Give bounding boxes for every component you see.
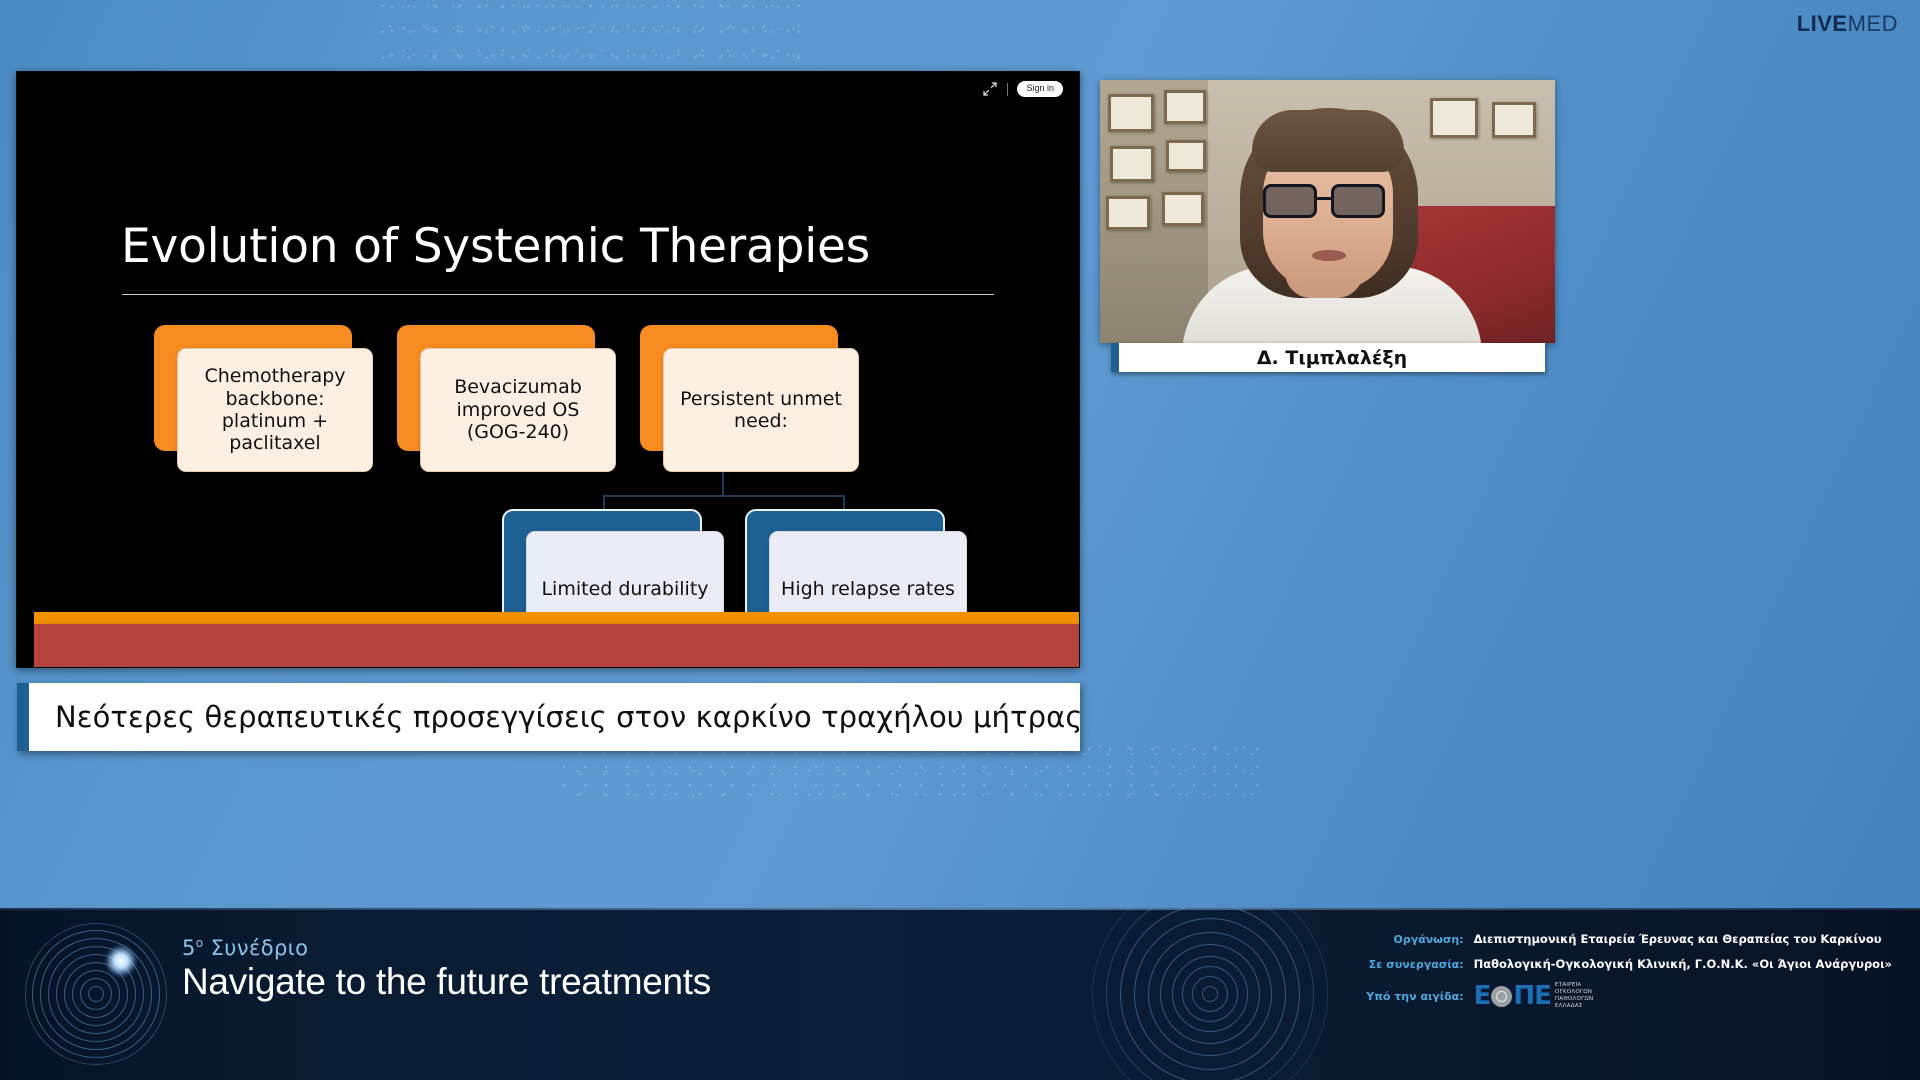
slide-red-band — [34, 624, 1080, 668]
speaker-name: Δ. Τιμπλαλέξη — [1257, 347, 1407, 369]
controls-divider — [1007, 83, 1008, 96]
diagram-node-bevacizumab: Bevacizumab improved OS (GOG-240) — [397, 325, 597, 473]
congress-text-block: 5ο Συνέδριο Navigate to the future treat… — [182, 936, 711, 1003]
brand-med: MED — [1848, 11, 1898, 36]
glasses-bridge — [1317, 197, 1333, 200]
congress-footer: 5ο Συνέδριο Navigate to the future treat… — [0, 908, 1920, 1080]
slide-title-underline — [122, 294, 994, 295]
eope-sub-line: ΕΤΑΙΡΕΙΑ — [1555, 982, 1593, 989]
congress-logo-mark — [22, 922, 170, 1070]
slide-orange-band — [34, 612, 1080, 624]
node-card: Chemotherapy backbone: platinum + paclit… — [177, 348, 373, 472]
slide-player-panel[interactable]: Sign in Evolution of Systemic Therapies … — [16, 71, 1080, 668]
node-label: Chemotherapy backbone: platinum + paclit… — [178, 365, 372, 455]
wall-frame — [1430, 98, 1478, 138]
app-root: LIVEMED Sign in Evolution of Systemic Th… — [0, 0, 1920, 1080]
player-controls: Sign in — [982, 81, 1063, 97]
eope-sub-line: ΕΛΛΑΔΑΣ — [1555, 1003, 1593, 1010]
eope-letters: E ΠE — [1474, 983, 1551, 1009]
glasses-right-lens — [1331, 184, 1385, 218]
glasses-left-lens — [1263, 184, 1317, 218]
eope-logo: E ΠE ΕΤΑΙΡΕΙΑ ΟΓΚΟΛΟΓΩΝ ΠΑΘΟΛΟΓΩΝ ΕΛΛΑΔΑ… — [1474, 982, 1892, 1011]
node-label: Limited durability — [531, 578, 718, 600]
slide-title: Evolution of Systemic Therapies — [121, 219, 870, 274]
sign-in-button[interactable]: Sign in — [1017, 81, 1063, 97]
brand-live: LIVE — [1797, 11, 1848, 36]
congress-edition: 5ο Συνέδριο — [182, 936, 711, 960]
diagram-node-chemotherapy: Chemotherapy backbone: platinum + paclit… — [154, 325, 354, 473]
sponsor-label-auspices: Υπό την αιγίδα: — [1366, 990, 1463, 1003]
node-label: Persistent unmet need: — [664, 388, 858, 433]
wall-frame — [1164, 90, 1206, 124]
sponsor-label-organizer: Οργάνωση: — [1366, 933, 1463, 946]
sponsor-label-collaboration: Σε συνεργασία: — [1366, 958, 1463, 971]
speaker-fringe — [1252, 110, 1404, 172]
node-label: High relapse rates — [771, 578, 965, 600]
logo-glow — [104, 944, 138, 978]
wall-frame — [1108, 94, 1154, 132]
sponsor-value-organizer: Διεπιστημονική Εταιρεία Έρευνας και Θερα… — [1474, 932, 1892, 946]
diagram-node-unmet-need: Persistent unmet need: — [640, 325, 840, 473]
eope-sub-line: ΠΑΘΟΛΟΓΩΝ — [1555, 996, 1593, 1003]
session-title-text: Νεότερες θεραπευτικές προσεγγίσεις στον … — [29, 700, 1082, 734]
speaker-video[interactable] — [1100, 80, 1555, 343]
congress-edition-ordinal: ο — [196, 936, 204, 950]
eope-letters-pe: ΠE — [1513, 983, 1551, 1009]
eope-letter-e: E — [1474, 983, 1491, 1009]
wall-frame — [1106, 196, 1150, 230]
livemed-logo: LIVEMED — [1797, 13, 1898, 35]
footer-top-edge — [0, 908, 1920, 910]
connector-horizontal — [603, 495, 845, 497]
congress-edition-number: 5 — [182, 936, 196, 960]
congress-title: Navigate to the future treatments — [182, 961, 711, 1003]
expand-arrows-icon[interactable] — [982, 81, 998, 97]
congress-edition-word: Συνέδριο — [211, 936, 309, 960]
connector-vertical-from-parent — [722, 472, 724, 496]
node-card: Persistent unmet need: — [663, 348, 859, 472]
speaker-nameplate: Δ. Τιμπλαλέξη — [1111, 343, 1545, 372]
wall-frame — [1162, 192, 1204, 226]
session-title-bar: Νεότερες θεραπευτικές προσεγγίσεις στον … — [17, 683, 1080, 751]
speaker-mouth — [1312, 250, 1346, 261]
wall-frame — [1166, 140, 1206, 172]
footer-center-ripple — [1090, 908, 1330, 1080]
node-card: Bevacizumab improved OS (GOG-240) — [420, 348, 616, 472]
eope-ring-icon — [1491, 986, 1512, 1007]
eope-sub-line: ΟΓΚΟΛΟΓΩΝ — [1555, 989, 1593, 996]
node-label: Bevacizumab improved OS (GOG-240) — [421, 376, 615, 443]
eope-subtitle: ΕΤΑΙΡΕΙΑ ΟΓΚΟΛΟΓΩΝ ΠΑΘΟΛΟΓΩΝ ΕΛΛΑΔΑΣ — [1555, 982, 1593, 1011]
sponsor-value-collaboration: Παθολογική-Ογκολογική Κλινική, Γ.Ο.Ν.Κ. … — [1474, 957, 1892, 971]
wall-frame — [1110, 146, 1154, 182]
sponsors-block: Οργάνωση: Διεπιστημονική Εταιρεία Έρευνα… — [1366, 932, 1892, 1011]
wall-frame — [1492, 102, 1536, 138]
